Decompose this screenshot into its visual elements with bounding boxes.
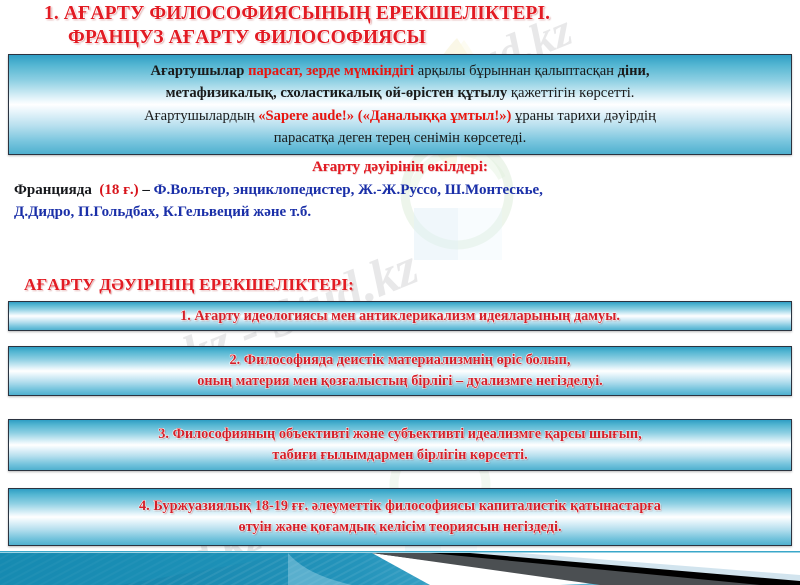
representatives-names-line-2: Д.Дидро, П.Гольдбах, К.Гельвеций және т.… xyxy=(14,204,311,220)
intro-line-3: Ағартушылардың «Sapere aude!» («Даналыққ… xyxy=(23,105,777,128)
feature-2-line-1: 2. Философияда деистік материализмнің өр… xyxy=(19,350,781,371)
features-heading: АҒАРТУ ДӘУІРІНІҢ ЕРЕКШЕЛІКТЕРІ: xyxy=(24,275,354,295)
representatives-dash: – xyxy=(139,182,154,198)
intro-line-3-motto: «Sapere aude!» («Даналыққа ұмтыл!») xyxy=(258,108,511,124)
feature-3-line-2: табиғи ғылымдармен бірлігін көрсетті. xyxy=(19,445,781,466)
representatives-body: Францияда (18 ғ.) – Ф.Вольтер, энциклопе… xyxy=(14,180,786,223)
feature-panel-4: 4. Буржуазиялық 18-19 ғғ. әлеуметтік фил… xyxy=(8,488,792,546)
intro-line-1-seg-c: діни, xyxy=(618,63,650,79)
representatives-period: (18 ғ.) xyxy=(99,182,138,198)
bottom-decoration-graphic xyxy=(0,551,800,585)
feature-text-2: 2. Философияда деистік материализмнің өр… xyxy=(9,350,791,392)
feature-3-line-1: 3. Философияның объективті және субъекти… xyxy=(19,424,781,445)
representatives-heading: Ағарту дәуірінің өкілдері: xyxy=(0,159,800,176)
intro-line-3-seg-a: Ағартушылардың xyxy=(144,108,258,124)
bottom-decoration xyxy=(0,551,800,585)
feature-panel-1: 1. Ағарту идеологиясы мен антиклерикализ… xyxy=(8,301,792,331)
feature-4-line-2: өтуін және қоғамдық келісім теориясын не… xyxy=(19,517,781,538)
representatives-country: Францияда xyxy=(14,182,92,198)
intro-line-1-seg-b: арқылы бұрыннан қалыптасқан xyxy=(414,63,618,79)
intro-text: Ағартушылар парасат, зерде мүмкіндігі ар… xyxy=(9,60,791,150)
intro-line-1-seg-a: Ағартушылар xyxy=(150,63,248,79)
intro-line-4: парасатқа деген терең сенімін көрсетеді. xyxy=(23,127,777,150)
slide-canvas: Stud.kz kz - Stud.kz Stud.kz Stud.kz 1. … xyxy=(0,0,800,585)
intro-panel: Ағартушылар парасат, зерде мүмкіндігі ар… xyxy=(8,54,792,155)
feature-panel-2: 2. Философияда деистік материализмнің өр… xyxy=(8,346,792,396)
intro-line-1-highlight: парасат, зерде мүмкіндігі xyxy=(248,63,414,79)
intro-line-3-seg-b: ұраны тарихи дәуірдің xyxy=(511,108,656,124)
slide-title-line-1: 1. АҒАРТУ ФИЛОСОФИЯСЫНЫҢ ЕРЕКШЕЛІКТЕРІ. xyxy=(0,2,800,26)
feature-text-1: 1. Ағарту идеологиясы мен антиклерикализ… xyxy=(9,306,791,327)
slide-title: 1. АҒАРТУ ФИЛОСОФИЯСЫНЫҢ ЕРЕКШЕЛІКТЕРІ. … xyxy=(0,2,800,50)
feature-panel-3: 3. Философияның объективті және субъекти… xyxy=(8,419,792,471)
feature-text-4: 4. Буржуазиялық 18-19 ғғ. әлеуметтік фил… xyxy=(9,496,791,538)
intro-line-2-seg-b: қажеттігін көрсетті. xyxy=(507,85,634,101)
intro-line-2-seg-a: метафизикалық, схоластикалық ой-өрістен … xyxy=(166,85,508,101)
feature-4-line-1: 4. Буржуазиялық 18-19 ғғ. әлеуметтік фил… xyxy=(19,496,781,517)
intro-line-1: Ағартушылар парасат, зерде мүмкіндігі ар… xyxy=(23,60,777,83)
feature-2-line-2: оның материя мен қозғалыстың бірлігі – д… xyxy=(19,371,781,392)
representatives-names-line-1: Ф.Вольтер, энциклопедистер, Ж.-Ж.Руссо, … xyxy=(154,182,543,198)
feature-1-line-1: 1. Ағарту идеологиясы мен антиклерикализ… xyxy=(19,306,781,327)
slide-title-line-2: ФРАНЦУЗ АҒАРТУ ФИЛОСОФИЯСЫ xyxy=(0,26,800,50)
feature-text-3: 3. Философияның объективті және субъекти… xyxy=(9,424,791,466)
intro-line-2: метафизикалық, схоластикалық ой-өрістен … xyxy=(23,82,777,105)
